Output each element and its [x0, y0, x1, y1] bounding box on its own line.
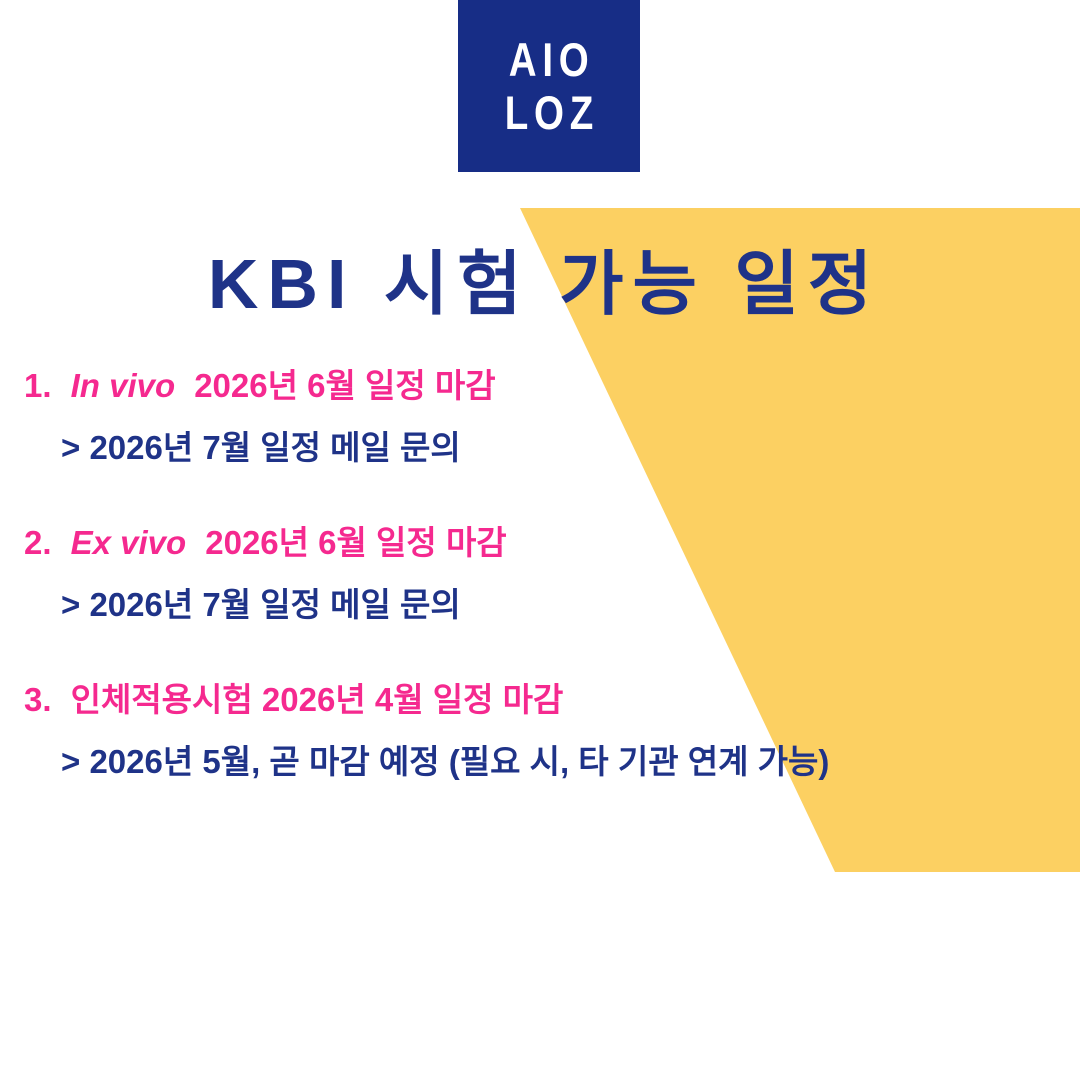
logo-text-line-1: AIO — [503, 36, 594, 84]
schedule-list: 1. In vivo 2026년 6월 일정 마감 > 2026년 7월 일정 … — [0, 362, 1080, 786]
schedule-item-2-note: > 2026년 7월 일정 메일 문의 — [0, 581, 1080, 629]
schedule-item-1-heading-rest: 2026년 6월 일정 마감 — [194, 367, 495, 404]
schedule-item-3-note: > 2026년 5월, 곧 마감 예정 (필요 시, 타 기관 연계 가능) — [0, 738, 1080, 786]
schedule-item-1-note: > 2026년 7월 일정 메일 문의 — [0, 424, 1080, 472]
schedule-item-2-number: 2. — [24, 524, 52, 561]
schedule-item-1-heading: 1. In vivo 2026년 6월 일정 마감 — [0, 362, 1080, 410]
schedule-item-1-emphasis: In vivo — [71, 367, 176, 404]
schedule-item-2-heading: 2. Ex vivo 2026년 6월 일정 마감 — [0, 519, 1080, 567]
schedule-item-3-heading: 3. 인체적용시험 2026년 4월 일정 마감 — [0, 676, 1080, 724]
schedule-item-2-emphasis: Ex vivo — [71, 524, 187, 561]
logo-text-line-2: LOZ — [499, 89, 599, 137]
page-title: KBI 시험 가능 일정 — [0, 243, 1080, 325]
schedule-item-3-number: 3. — [24, 681, 52, 718]
schedule-item-1-number: 1. — [24, 367, 52, 404]
poster-canvas: AIO LOZ KBI 시험 가능 일정 1. In vivo 2026년 6월… — [0, 0, 1080, 1080]
aioloz-logo: AIO LOZ — [458, 0, 640, 172]
schedule-item-3-heading-rest: 인체적용시험 2026년 4월 일정 마감 — [71, 681, 564, 718]
schedule-item-1: 1. In vivo 2026년 6월 일정 마감 > 2026년 7월 일정 … — [0, 362, 1080, 472]
schedule-item-2-heading-rest: 2026년 6월 일정 마감 — [205, 524, 506, 561]
schedule-item-2: 2. Ex vivo 2026년 6월 일정 마감 > 2026년 7월 일정 … — [0, 519, 1080, 629]
schedule-item-3: 3. 인체적용시험 2026년 4월 일정 마감 > 2026년 5월, 곧 마… — [0, 676, 1080, 786]
